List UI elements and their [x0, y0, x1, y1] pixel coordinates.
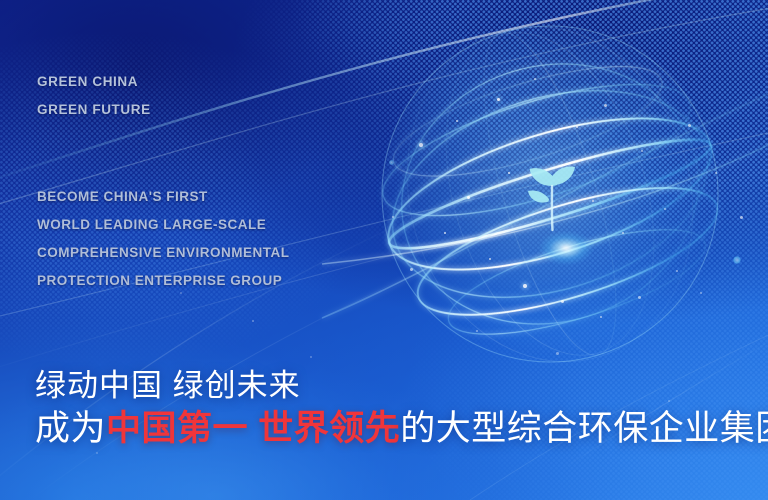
eyebrow-line-1: GREEN CHINA: [37, 68, 151, 96]
headline-line-2: 成为中国第一 世界领先的大型综合环保企业集团: [35, 406, 768, 452]
subheading-line-2: WORLD LEADING LARGE-SCALE: [37, 211, 290, 239]
hero-banner: GREEN CHINA GREEN FUTURE BECOME CHINA'S …: [0, 0, 768, 500]
headline-suffix: 的大型综合环保企业集团: [400, 409, 768, 448]
eyebrow-tagline: GREEN CHINA GREEN FUTURE: [37, 68, 151, 124]
subheading-block: BECOME CHINA'S FIRST WORLD LEADING LARGE…: [37, 183, 290, 295]
subheading-line-3: COMPREHENSIVE ENVIRONMENTAL: [37, 239, 290, 267]
headline-prefix: 成为: [35, 409, 106, 448]
subheading-line-1: BECOME CHINA'S FIRST: [37, 183, 290, 211]
subheading-line-4: PROTECTION ENTERPRISE GROUP: [37, 267, 290, 295]
headline-line-1: 绿动中国 绿创未来: [35, 366, 768, 406]
headline-highlight: 中国第一 世界领先: [106, 409, 400, 448]
eyebrow-line-2: GREEN FUTURE: [37, 96, 151, 124]
headline-block: 绿动中国 绿创未来 成为中国第一 世界领先的大型综合环保企业集团: [35, 366, 768, 452]
